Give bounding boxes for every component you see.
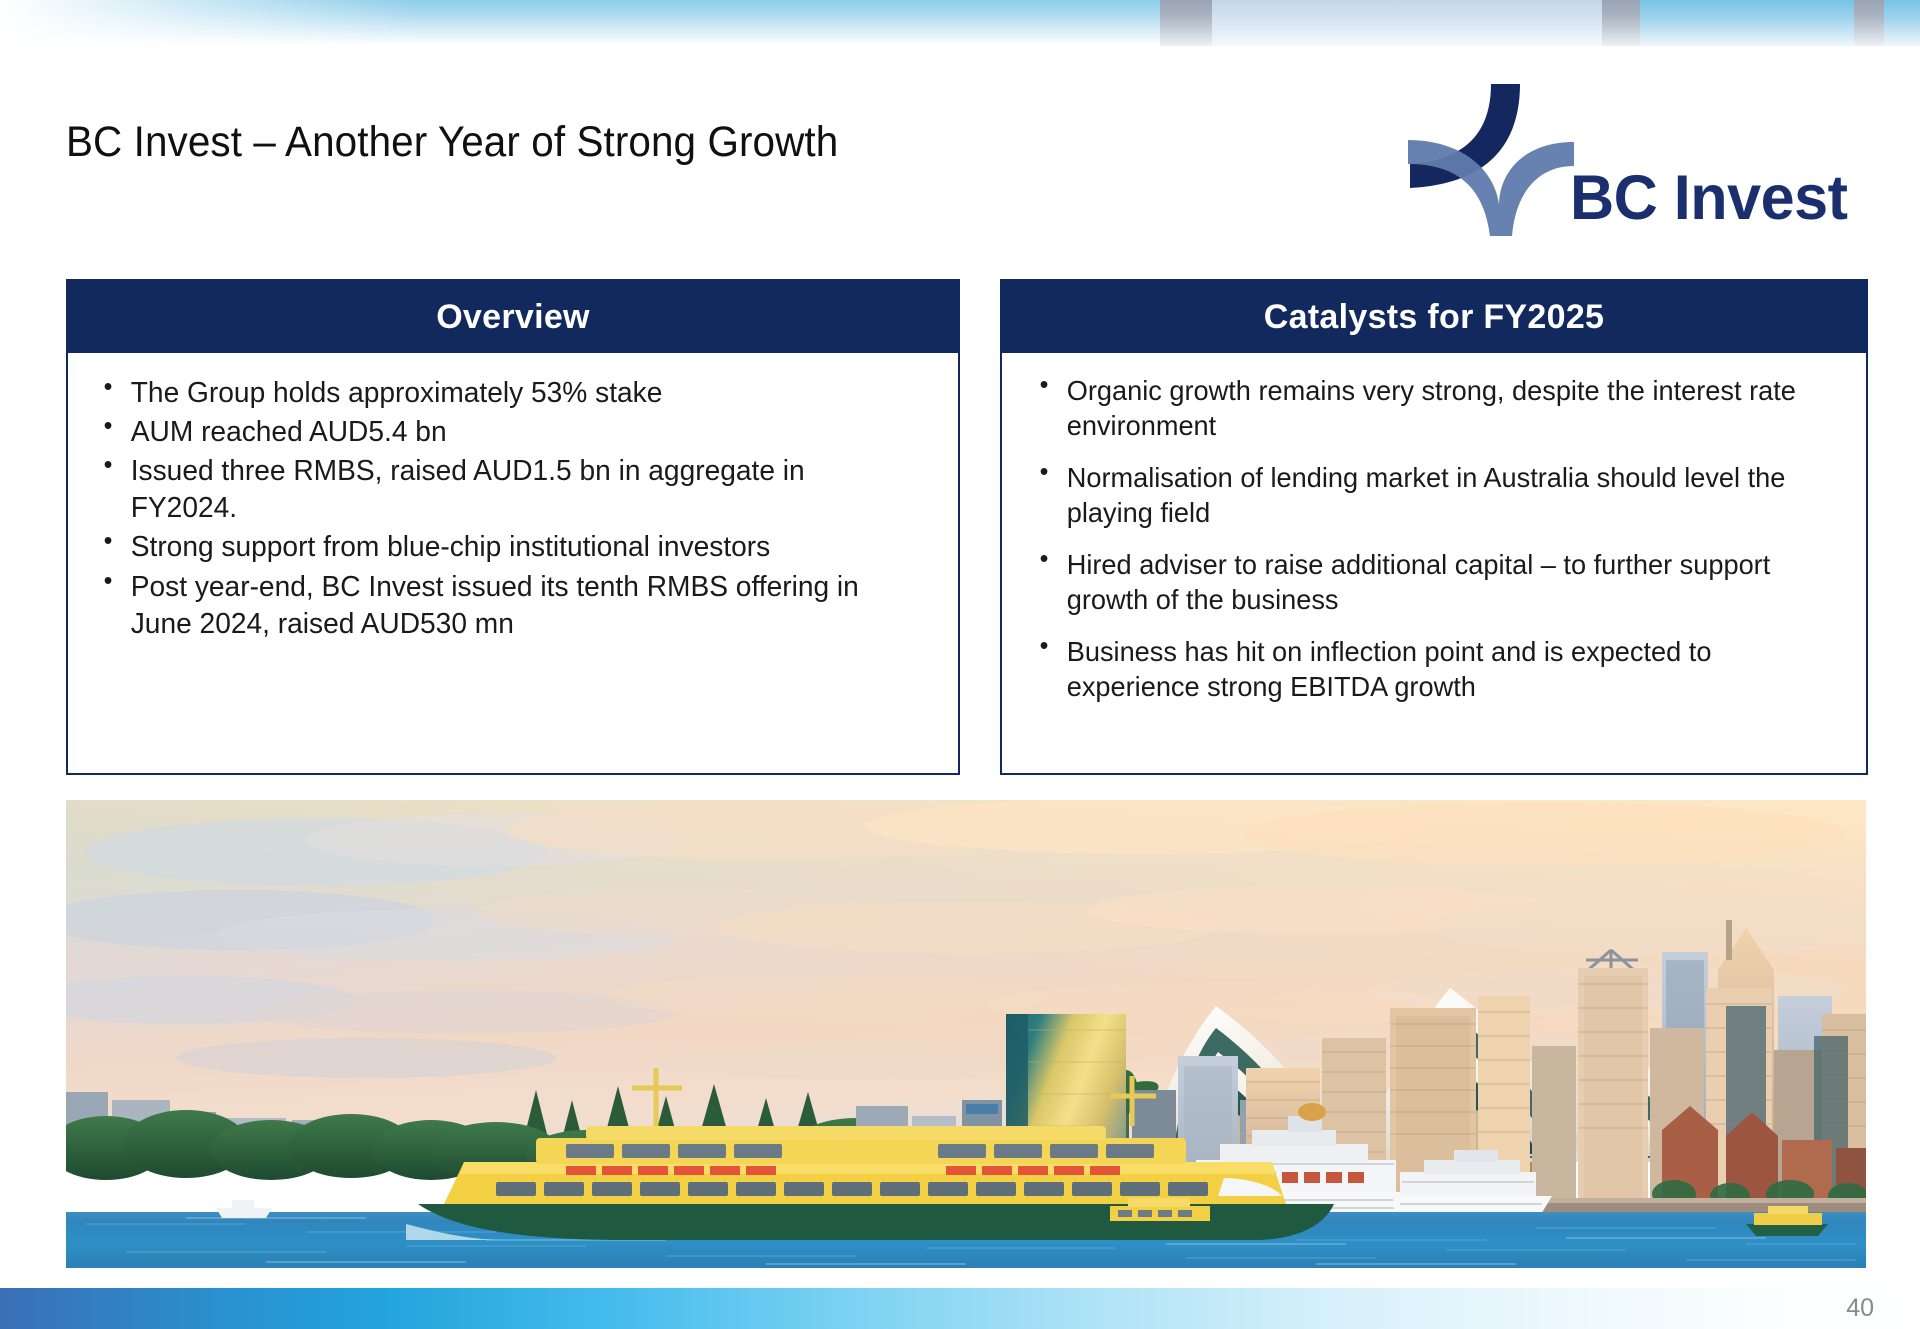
- list-item: Business has hit on inflection point and…: [1026, 634, 1819, 704]
- list-item: Post year-end, BC Invest issued its tent…: [90, 569, 911, 643]
- bc-invest-logo: BC Invest: [1398, 78, 1868, 238]
- list-item: The Group holds approximately 53% stake: [90, 375, 911, 412]
- bc-invest-logo-text: BC Invest: [1570, 162, 1847, 234]
- list-item: Normalisation of lending market in Austr…: [1026, 460, 1819, 530]
- top-band-stripe: [1884, 0, 1920, 46]
- sydney-harbour-illustration: [66, 800, 1866, 1268]
- list-item: Strong support from blue-chip institutio…: [90, 529, 911, 566]
- overview-panel: Overview The Group holds approximately 5…: [66, 279, 960, 775]
- top-band-stripe: [1602, 0, 1640, 46]
- list-item: Organic growth remains very strong, desp…: [1026, 373, 1819, 443]
- page-title: BC Invest – Another Year of Strong Growt…: [66, 118, 838, 167]
- page-number: 40: [1846, 1288, 1874, 1329]
- top-band-stripe: [1212, 0, 1602, 46]
- bottom-decorative-band: [0, 1288, 1920, 1329]
- catalysts-panel-body: Organic growth remains very strong, desp…: [1002, 353, 1866, 731]
- catalysts-panel-heading: Catalysts for FY2025: [1002, 281, 1866, 353]
- list-item: AUM reached AUD5.4 bn: [90, 414, 911, 451]
- overview-panel-body: The Group holds approximately 53% stake …: [68, 353, 958, 655]
- top-band-stripe: [1640, 0, 1854, 46]
- bc-invest-logo-mark: [1398, 78, 1578, 238]
- catalysts-panel: Catalysts for FY2025 Organic growth rema…: [1000, 279, 1868, 775]
- catalysts-bullet-list: Organic growth remains very strong, desp…: [1026, 373, 1844, 704]
- list-item: Hired adviser to raise additional capita…: [1026, 547, 1819, 617]
- overview-bullet-list: The Group holds approximately 53% stake …: [90, 375, 936, 643]
- top-band-stripe: [1160, 0, 1212, 46]
- list-item: Issued three RMBS, raised AUD1.5 bn in a…: [90, 453, 911, 527]
- sydney-harbour-photo: [66, 800, 1866, 1268]
- top-decorative-band: [0, 0, 1920, 46]
- top-band-stripe: [1854, 0, 1884, 46]
- top-band-fade: [0, 0, 420, 46]
- overview-panel-heading: Overview: [68, 281, 958, 353]
